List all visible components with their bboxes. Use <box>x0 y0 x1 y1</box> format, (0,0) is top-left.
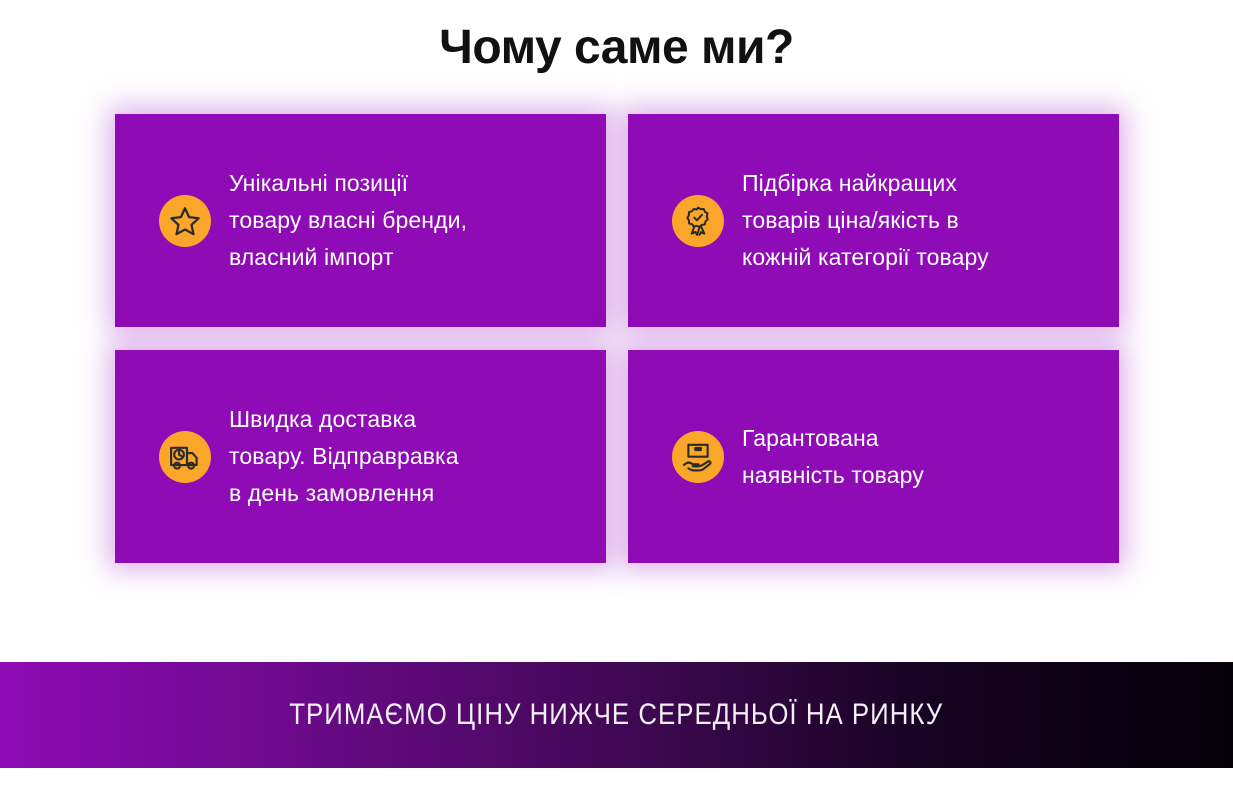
feature-card-guaranteed-availability[interactable]: Гарантована наявність товару <box>628 350 1119 563</box>
slide-root: Чому саме ми? Унікальні позиції товару в… <box>0 0 1233 800</box>
feature-card-best-selection[interactable]: Підбірка найкращих товарів ціна/якість в… <box>628 114 1119 327</box>
card-content: Унікальні позиції товару власні бренди, … <box>115 165 606 276</box>
page-title: Чому саме ми? <box>0 22 1233 75</box>
bottom-banner: ТРИМАЄМО ЦІНУ НИЖЧЕ СЕРЕДНЬОЇ НА РИНКУ <box>0 662 1233 768</box>
card-text: Швидка доставка товару. Відправравка в д… <box>229 401 459 512</box>
box-on-hand-icon <box>672 431 724 483</box>
card-text: Унікальні позиції товару власні бренди, … <box>229 165 467 276</box>
feature-card-fast-delivery[interactable]: Швидка доставка товару. Відправравка в д… <box>115 350 606 563</box>
star-icon <box>159 195 211 247</box>
card-content: Гарантована наявність товару <box>628 420 1119 494</box>
card-content: Швидка доставка товару. Відправравка в д… <box>115 401 606 512</box>
banner-text: ТРИМАЄМО ЦІНУ НИЖЧЕ СЕРЕДНЬОЇ НА РИНКУ <box>290 698 944 732</box>
award-badge-icon <box>672 195 724 247</box>
card-content: Підбірка найкращих товарів ціна/якість в… <box>628 165 1119 276</box>
card-text: Підбірка найкращих товарів ціна/якість в… <box>742 165 989 276</box>
features-grid: Унікальні позиції товару власні бренди, … <box>115 114 1119 563</box>
feature-card-unique-positions[interactable]: Унікальні позиції товару власні бренди, … <box>115 114 606 327</box>
delivery-truck-clock-icon <box>159 431 211 483</box>
card-text: Гарантована наявність товару <box>742 420 924 494</box>
